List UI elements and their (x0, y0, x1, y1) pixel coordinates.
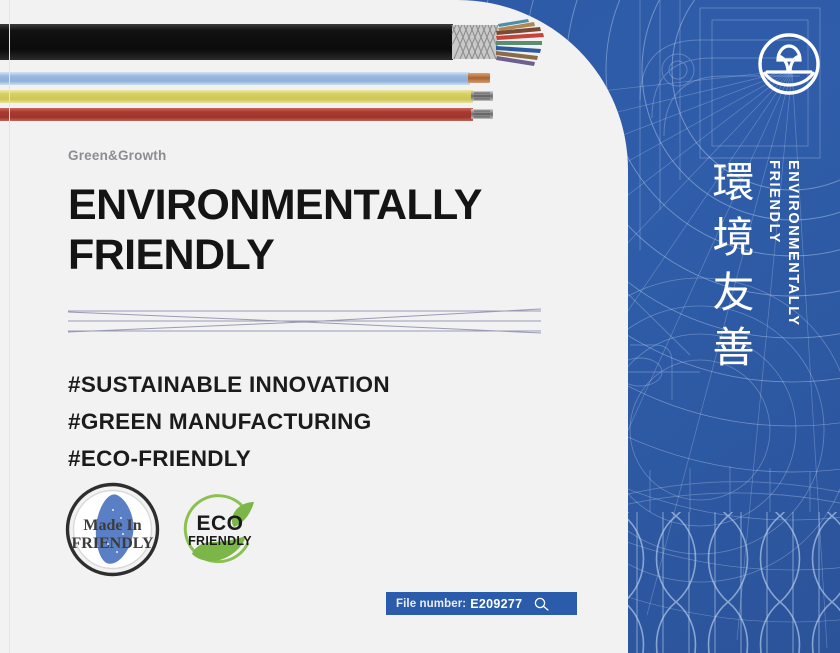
yellow-wire (0, 90, 473, 103)
vertical-text-environmentally: ENVIRONMENTALLY (785, 160, 801, 327)
friendly-label: FRIENDLY (188, 534, 252, 548)
file-number-bar[interactable]: File number: E209277 (386, 592, 577, 615)
blue-wire-copper-tip (468, 73, 490, 83)
vertical-text-friendly: FRIENDLY (766, 160, 782, 244)
brand-logo-icon (757, 32, 821, 96)
made-in-taiwan-badge: Made In FRIENDLY (65, 482, 160, 577)
cable-illustration (0, 0, 628, 135)
made-in-taiwan-line-1: Made In (83, 517, 141, 534)
eyebrow-label: Green&Growth (68, 148, 568, 163)
content-card: Green&Growth ENVIRONMENTALLY FRIENDLY #S… (0, 0, 628, 653)
headline-line-1: ENVIRONMENTALLY (68, 180, 568, 230)
card-edge-line (9, 0, 10, 653)
file-number-label: File number: (396, 598, 466, 610)
page-title: ENVIRONMENTALLY FRIENDLY (68, 180, 568, 280)
eco-friendly-badge: ECO FRIENDLY (182, 490, 262, 570)
hashtag-item: #GREEN MANUFACTURING (68, 403, 568, 440)
eco-label: ECO (196, 512, 243, 535)
inner-conductors (496, 19, 544, 66)
headline-line-2: FRIENDLY (68, 230, 568, 280)
hashtag-item: #SUSTAINABLE INNOVATION (68, 366, 568, 403)
headline-block: Green&Growth ENVIRONMENTALLY FRIENDLY #S… (68, 148, 568, 477)
black-cable-jacket (0, 24, 453, 60)
light-blue-wire (0, 72, 470, 85)
hashtag-item: #ECO-FRIENDLY (68, 440, 568, 477)
made-in-taiwan-line-2: FRIENDLY (71, 535, 154, 552)
decorative-divider (68, 306, 541, 342)
cjk-vertical-title: 環境友善 (703, 160, 758, 380)
file-number-value: E209277 (470, 597, 522, 611)
red-wire (0, 108, 473, 121)
hashtag-list: #SUSTAINABLE INNOVATION #GREEN MANUFACTU… (68, 366, 568, 477)
braid-shield (452, 25, 498, 59)
search-icon[interactable] (533, 597, 550, 611)
certification-badges: Made In FRIENDLY ECO FRIENDLY (65, 482, 262, 577)
